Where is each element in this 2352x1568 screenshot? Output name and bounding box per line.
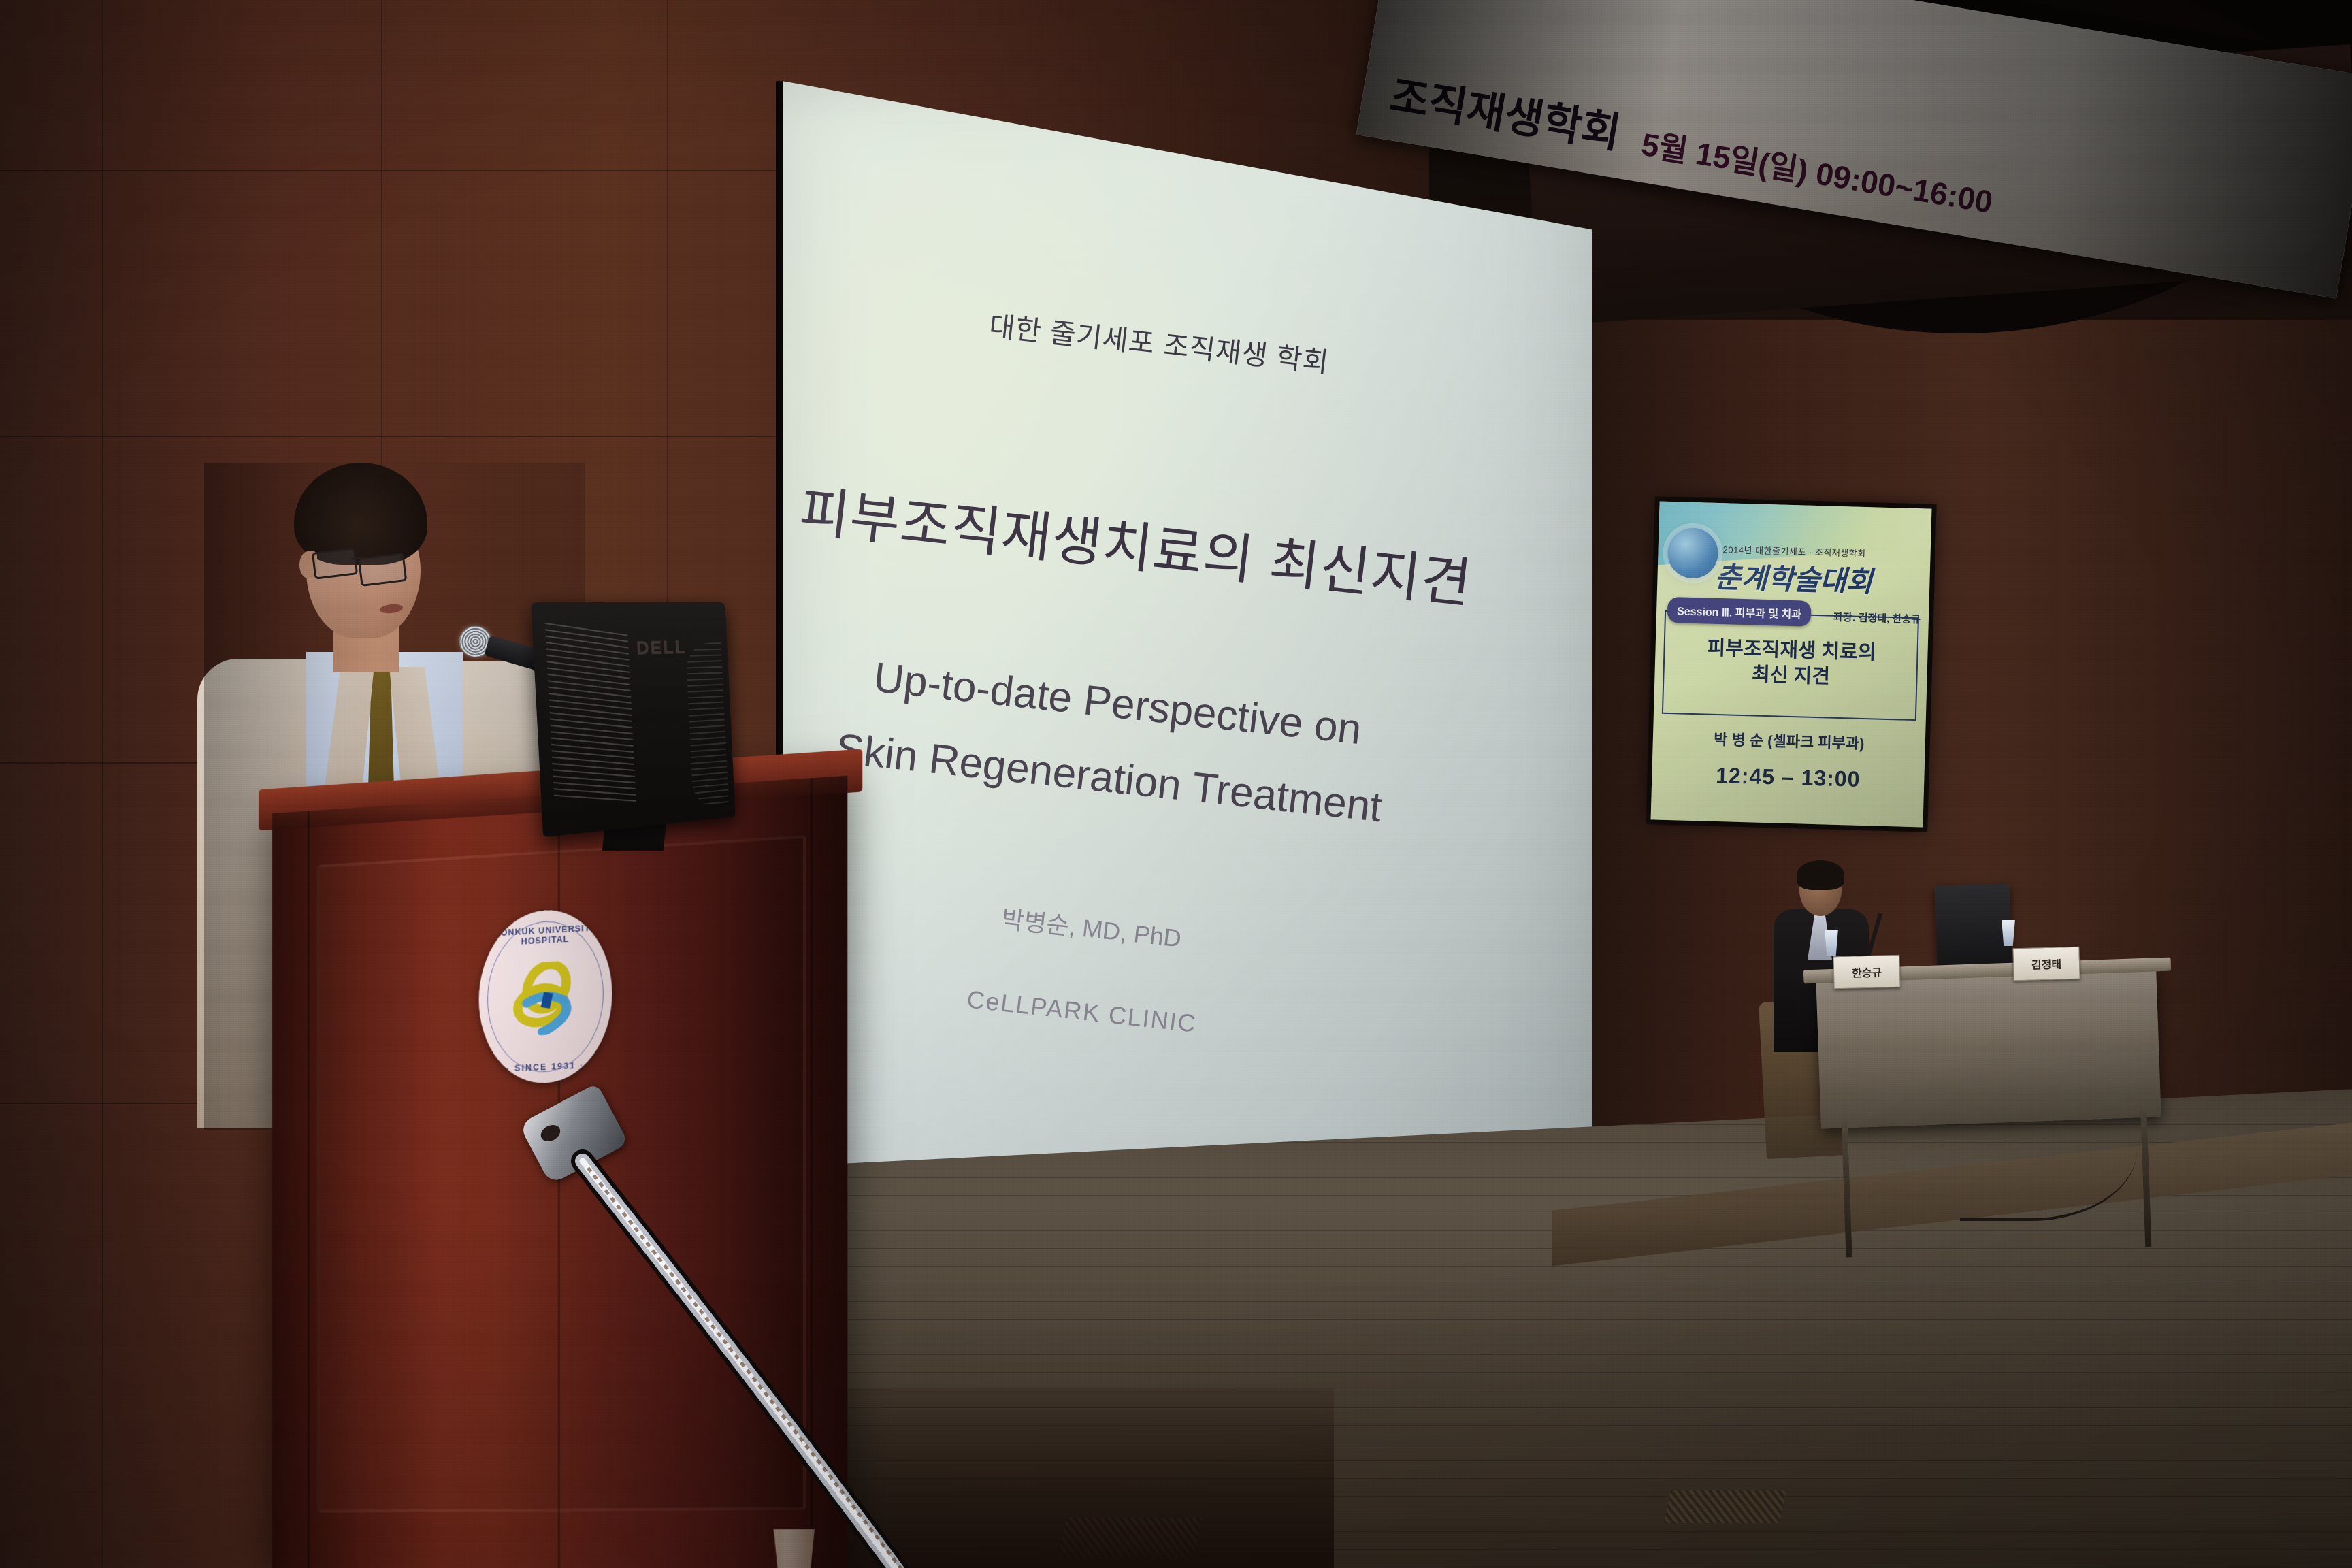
paper-cup xyxy=(770,1529,819,1568)
podium-groove xyxy=(558,794,560,1568)
slide-kicker: 대한 줄기세포 조직재생 학회 xyxy=(755,278,1565,406)
podium-monitor: DELL xyxy=(531,602,735,838)
side-screen-time: 12:45 – 13:00 xyxy=(1652,761,1925,794)
eyeglasses-icon xyxy=(358,553,408,587)
podium-groove xyxy=(811,778,813,1568)
konkuk-logo-icon xyxy=(503,960,588,1037)
monitor-brand-logo: DELL xyxy=(636,637,687,659)
lectern-podium: KONKUK UNIVERSITY HOSPITAL · SINCE 1931 … xyxy=(272,776,847,1568)
nameplate-right: 김정태 xyxy=(2012,947,2080,981)
main-projection-screen: 대한 줄기세포 조직재생 학회 피부조직재생치료의 최신지견 Up-to-dat… xyxy=(783,75,1592,1313)
chairperson-hair xyxy=(1797,860,1844,890)
monitor-vent xyxy=(685,642,729,809)
session-badge: Session Ⅲ. 피부과 및 치과 xyxy=(1667,597,1812,627)
side-screen-calligraphy: 춘계학술대회 xyxy=(1657,553,1931,602)
floor-grate xyxy=(1664,1490,1786,1523)
side-program-screen: 2014년 대한줄기세포 · 조직재생학회 춘계학술대회 Session Ⅲ. … xyxy=(1651,502,1932,828)
nameplate-left: 한승규 xyxy=(1833,955,1900,990)
slide-title-korean: 피부조직재생치료의 최신지견 xyxy=(729,460,1543,626)
monitor-vent xyxy=(545,623,636,805)
wall-seam xyxy=(102,0,103,1568)
wall-seam xyxy=(0,436,776,437)
podium-groove xyxy=(308,811,310,1568)
side-screen-title: 피부조직재생 치료의 최신 지견 xyxy=(1654,634,1928,692)
wall-seam xyxy=(0,170,776,171)
presenter-hair xyxy=(294,463,427,565)
eyeglasses-icon xyxy=(312,547,358,580)
side-screen-speaker: 박 병 순 (셀파크 피부과) xyxy=(1653,725,1926,755)
conference-presentation-photo: 조직재생학회 5월 15일(일) 09:00~16:00 대한 줄기세포 조직재… xyxy=(0,0,2352,1568)
